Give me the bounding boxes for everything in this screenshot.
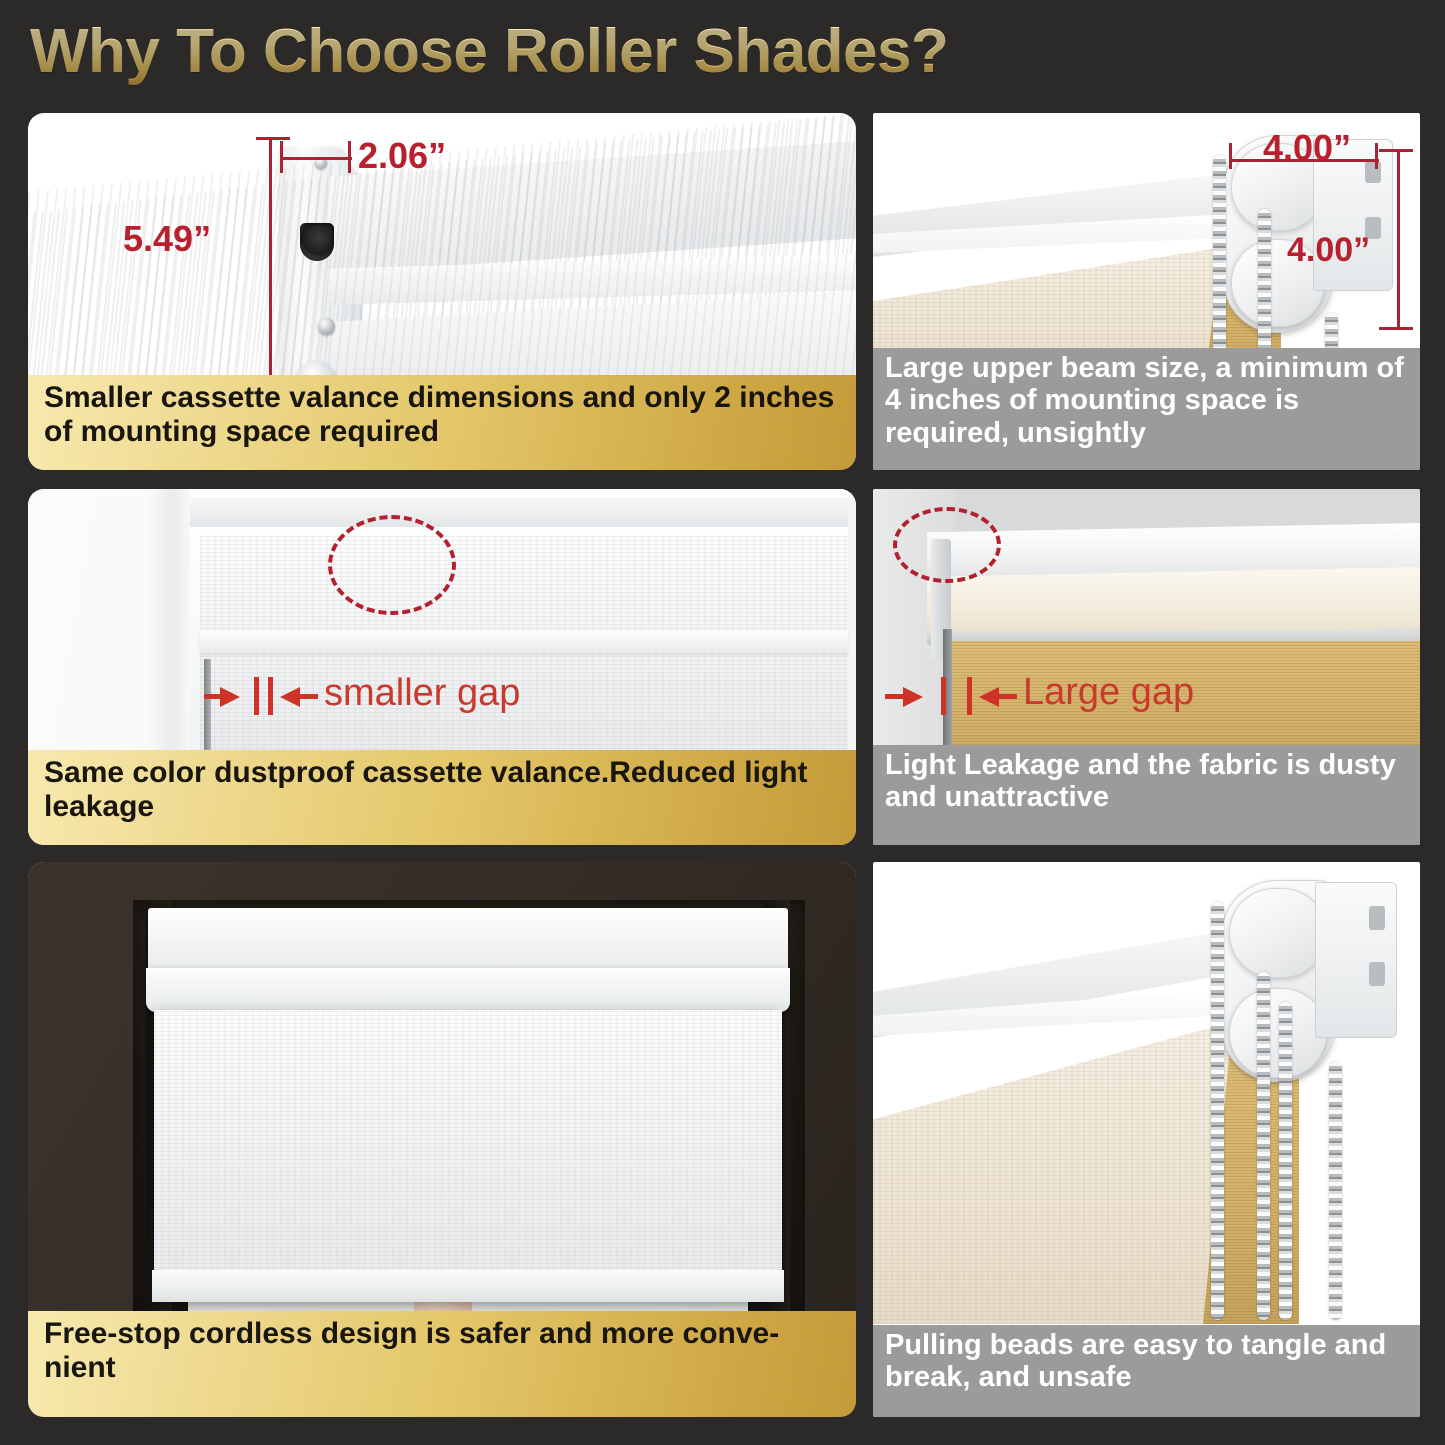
bead-chain-front xyxy=(1211,902,1224,1320)
panel-5-caption: Free-stop cordless design is safer and m… xyxy=(28,1311,856,1417)
bracket-pin-hole xyxy=(300,223,334,261)
gap-arrow-right-stem xyxy=(885,694,905,699)
gap-tick-left xyxy=(254,677,259,715)
cassette-headrail-lower xyxy=(146,968,790,1012)
panel-3-caption: Same color dustproof cassette valance.Re… xyxy=(28,750,856,845)
panel-2-caption: Large upper beam size, a minimum of 4 in… xyxy=(873,348,1420,470)
dim-4-00-v-line xyxy=(1397,149,1400,329)
roller-end-cap-lower-lobe xyxy=(1229,988,1327,1078)
panel-pulling-beads: Pulling beads are easy to tangle and bre… xyxy=(873,862,1420,1417)
mount-slot-top xyxy=(1365,161,1381,183)
gap-tick-right xyxy=(967,677,972,715)
gap-tick-right xyxy=(268,677,273,715)
panel-light-leakage: Large gap Light Leakage and the fabric i… xyxy=(873,489,1420,845)
roller-shade-fabric xyxy=(154,1010,782,1300)
page-title: Why To Choose Roller Shades? xyxy=(30,16,1030,88)
dim-4-00-v-bottom-tick xyxy=(1379,327,1413,330)
panel-smaller-cassette: 2.06” 5.49” Smaller cassette valance dim… xyxy=(28,113,856,470)
roller-end-cap-upper-lobe xyxy=(1229,888,1327,978)
dimension-label-4-00-width: 4.00” xyxy=(1263,127,1351,169)
dim-4-00-v-top-tick xyxy=(1379,149,1413,152)
upper-beam xyxy=(927,567,1420,637)
dimension-label-2-06: 2.06” xyxy=(358,135,446,177)
gap-arrow-left-stem xyxy=(300,694,318,699)
panel-4-caption: Light Leakage and the fabric is dusty an… xyxy=(873,745,1420,845)
cassette-bottom-rail xyxy=(200,631,848,653)
bead-chain-mid xyxy=(1257,972,1270,1320)
highlight-circle-icon xyxy=(328,515,456,615)
gap-arrow-left-stem xyxy=(999,694,1017,699)
dim-4-00-h-left-tick xyxy=(1229,143,1232,169)
mount-slot-top xyxy=(1369,906,1385,930)
shade-fabric-cream xyxy=(873,1014,1261,1324)
infographic-root: Why To Choose Roller Shades? 2.06” xyxy=(0,0,1445,1445)
shade-bottom-bar xyxy=(152,1270,784,1302)
window-frame-bevel xyxy=(176,497,848,527)
cassette-headrail xyxy=(148,908,788,976)
gap-arrow-right-icon xyxy=(903,687,923,707)
panel-6-caption: Pulling beads are easy to tangle and bre… xyxy=(873,1325,1420,1417)
dimension-label-5-49: 5.49” xyxy=(123,218,211,260)
panel-dustproof-cassette: smaller gap Same color dustproof cassett… xyxy=(28,489,856,845)
gap-arrow-left-icon xyxy=(280,687,300,707)
panel-large-upper-beam: 4.00” 4.00” Large upper beam size, a min… xyxy=(873,113,1420,470)
dim-2-06-line xyxy=(280,157,352,160)
bead-chain-rear xyxy=(1279,1002,1292,1320)
wall-mount-plate xyxy=(1315,882,1397,1038)
dimension-label-4-00-height: 4.00” xyxy=(1287,231,1370,270)
gap-label-large: Large gap xyxy=(1023,671,1194,714)
panel-cordless-design: Free-stop cordless design is safer and m… xyxy=(28,862,856,1417)
bead-chain-loop xyxy=(1329,1062,1342,1320)
panel-1-caption: Smaller cassette valance dimensions and … xyxy=(28,375,856,470)
dim-5-49-top-tick xyxy=(256,137,290,140)
highlight-circle-icon xyxy=(893,507,1001,583)
mount-slot-bottom xyxy=(1369,962,1385,986)
gap-arrow-left-icon xyxy=(979,687,999,707)
window-jamb xyxy=(148,489,190,789)
gap-arrow-right-icon xyxy=(220,687,240,707)
gap-arrow-right-stem xyxy=(204,694,222,699)
gap-tick-left xyxy=(941,677,946,715)
bracket-screw xyxy=(318,318,335,335)
gap-label-smaller: smaller gap xyxy=(324,672,520,715)
dim-4-00-h-right-tick xyxy=(1375,143,1378,169)
